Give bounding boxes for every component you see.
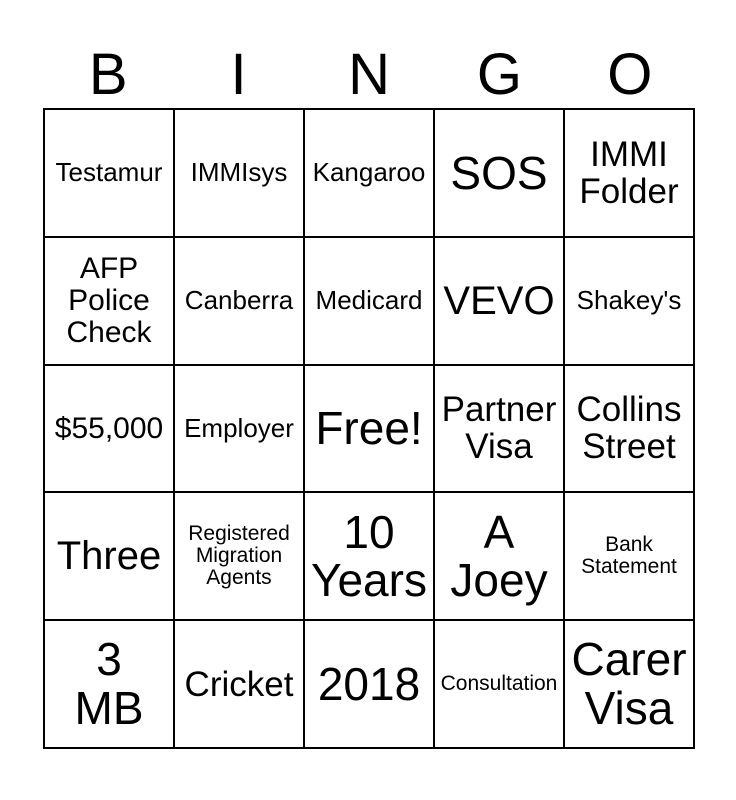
- bingo-header-row: B I N G O: [43, 20, 695, 108]
- bingo-cell-text: Bank Statement: [568, 534, 690, 579]
- bingo-cell-text: AFP Police Check: [48, 253, 170, 348]
- bingo-cell[interactable]: 3 MB: [45, 621, 175, 749]
- bingo-header-letter-n: N: [304, 20, 434, 108]
- bingo-cell[interactable]: $55,000: [45, 366, 175, 494]
- bingo-cell[interactable]: AFP Police Check: [45, 238, 175, 366]
- bingo-header-letter-o: O: [565, 20, 695, 108]
- bingo-cell-text: Free!: [308, 404, 430, 453]
- bingo-header-letter-b: B: [43, 20, 173, 108]
- bingo-cell-text: Kangaroo: [308, 159, 430, 187]
- bingo-cell[interactable]: Employer: [175, 366, 305, 494]
- bingo-cell-text: Registered Migration Agents: [178, 523, 300, 590]
- bingo-header-letter-i: I: [173, 20, 303, 108]
- bingo-cell[interactable]: A Joey: [435, 493, 565, 621]
- bingo-cell[interactable]: Shakey's: [565, 238, 695, 366]
- bingo-cell-text: Carer Visa: [568, 635, 690, 733]
- bingo-cell[interactable]: Kangaroo: [305, 110, 435, 238]
- bingo-cell[interactable]: Registered Migration Agents: [175, 493, 305, 621]
- bingo-cell[interactable]: Three: [45, 493, 175, 621]
- bingo-cell[interactable]: Testamur: [45, 110, 175, 238]
- bingo-cell-text: Collins Street: [568, 391, 690, 465]
- bingo-cell[interactable]: Cricket: [175, 621, 305, 749]
- bingo-cell[interactable]: IMMI Folder: [565, 110, 695, 238]
- bingo-cell-text: A Joey: [438, 508, 560, 606]
- bingo-cell[interactable]: 2018: [305, 621, 435, 749]
- bingo-cell-text: IMMIsys: [178, 159, 300, 187]
- bingo-cell-text: SOS: [438, 149, 560, 198]
- bingo-cell[interactable]: Carer Visa: [565, 621, 695, 749]
- bingo-cell-text: Medicard: [308, 287, 430, 315]
- bingo-header-letter-g: G: [434, 20, 564, 108]
- bingo-cell[interactable]: SOS: [435, 110, 565, 238]
- bingo-cell[interactable]: Partner Visa: [435, 366, 565, 494]
- bingo-cell-text: Partner Visa: [438, 391, 560, 465]
- bingo-cell-text: 2018: [308, 660, 430, 709]
- bingo-cell-text: Consultation: [438, 673, 560, 695]
- bingo-cell-text: Employer: [178, 415, 300, 443]
- bingo-cell[interactable]: 10 Years: [305, 493, 435, 621]
- bingo-cell-text: Cricket: [178, 666, 300, 703]
- bingo-cell[interactable]: Consultation: [435, 621, 565, 749]
- bingo-cell[interactable]: Canberra: [175, 238, 305, 366]
- bingo-cell-text: 10 Years: [308, 508, 430, 606]
- bingo-cell[interactable]: Free!: [305, 366, 435, 494]
- bingo-cell-text: Three: [48, 535, 170, 577]
- bingo-cell[interactable]: Bank Statement: [565, 493, 695, 621]
- bingo-card: B I N G O TestamurIMMIsysKangarooSOSIMMI…: [0, 0, 736, 800]
- bingo-cell-text: Shakey's: [568, 287, 690, 315]
- bingo-cell[interactable]: IMMIsys: [175, 110, 305, 238]
- bingo-cell-text: Canberra: [178, 287, 300, 315]
- bingo-cell[interactable]: Medicard: [305, 238, 435, 366]
- bingo-cell[interactable]: Collins Street: [565, 366, 695, 494]
- bingo-grid: TestamurIMMIsysKangarooSOSIMMI FolderAFP…: [43, 108, 695, 749]
- bingo-cell-text: IMMI Folder: [568, 136, 690, 210]
- bingo-cell-text: Testamur: [48, 159, 170, 187]
- bingo-cell-text: 3 MB: [48, 635, 170, 733]
- bingo-cell-text: VEVO: [438, 280, 560, 322]
- bingo-cell[interactable]: VEVO: [435, 238, 565, 366]
- bingo-cell-text: $55,000: [48, 413, 170, 445]
